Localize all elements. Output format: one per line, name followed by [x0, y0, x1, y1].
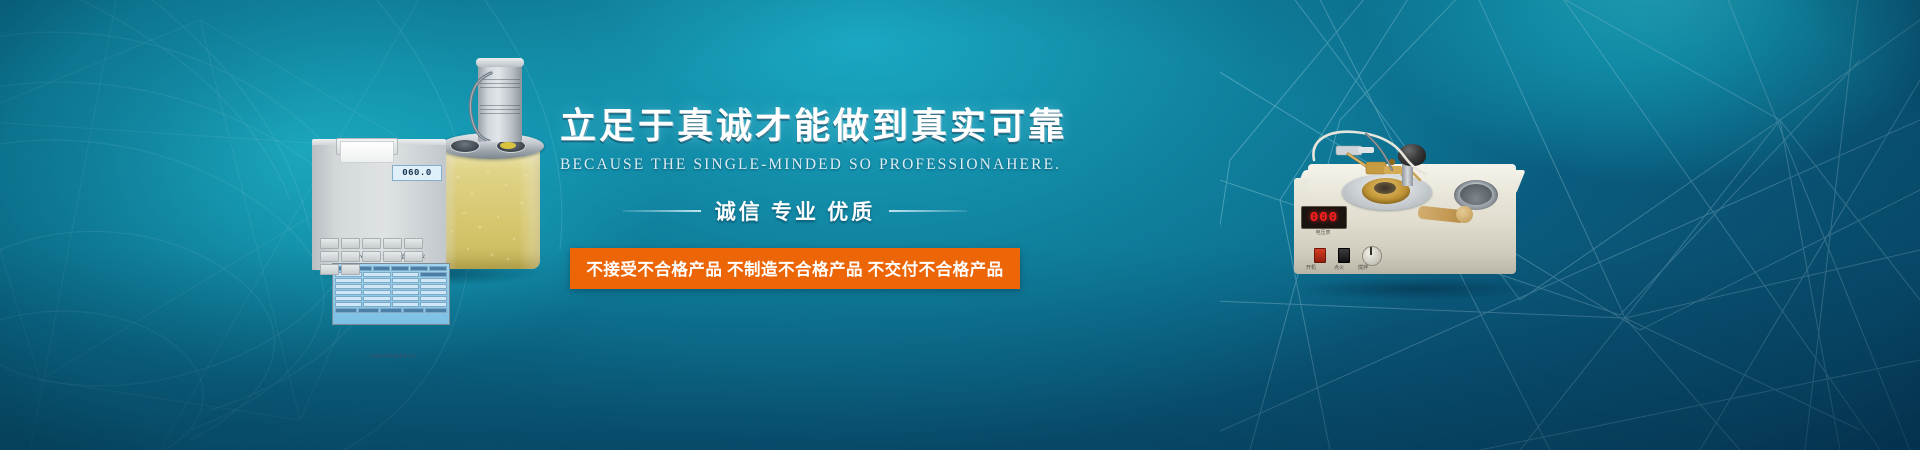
keypad-key[interactable] — [341, 238, 360, 249]
quality-slogan-banner: 不接受不合格产品 不制造不合格产品 不交付不合格产品 — [570, 248, 1019, 289]
lcd-cell — [392, 284, 419, 289]
lcd-row — [335, 290, 447, 295]
cup-handle-knob — [1456, 206, 1473, 223]
lcd-cell — [429, 266, 447, 271]
lcd-cell — [363, 302, 390, 307]
console-footer-label: 上海昌吉地质仪器有限公司 — [328, 352, 454, 359]
lcd-cell — [392, 296, 419, 301]
lcd-cell — [392, 278, 419, 283]
lcd-cell — [335, 290, 362, 295]
lcd-cell — [335, 308, 357, 313]
keypad-key[interactable] — [362, 251, 381, 262]
keypad-key[interactable] — [341, 264, 360, 275]
console-keypad — [320, 238, 438, 260]
lcd-row — [335, 302, 447, 307]
lcd-cell — [392, 272, 419, 277]
keypad-key[interactable] — [320, 251, 339, 262]
keyword-text: 诚信 专业 优质 — [715, 196, 876, 226]
lcd-cell — [420, 302, 447, 307]
bath-port-oil-surface — [500, 142, 516, 149]
led-voltage-display: 000 — [1301, 206, 1347, 229]
lcd-cell — [420, 272, 447, 277]
bath-port-left — [450, 139, 480, 153]
condenser-hose — [465, 69, 495, 141]
lcd-cell — [420, 278, 447, 283]
lcd-cell — [335, 284, 362, 289]
keypad-key[interactable] — [383, 238, 402, 249]
keypad-key[interactable] — [320, 238, 339, 249]
divider-rule-left — [623, 210, 701, 212]
tester-shadow — [1296, 278, 1536, 300]
control-label-ignition: 点火 — [1334, 264, 1344, 271]
lcd-cell — [363, 290, 390, 295]
lcd-cell — [410, 266, 428, 271]
control-label-stir: 搅拌 — [1358, 264, 1368, 271]
keypad-key[interactable] — [362, 238, 381, 249]
led-display-label: 电压表 — [1301, 229, 1345, 238]
lcd-cell — [335, 296, 362, 301]
lcd-cell — [403, 308, 425, 313]
lcd-cell — [391, 266, 409, 271]
control-label-power: 开机 — [1306, 264, 1316, 271]
lcd-row — [335, 278, 447, 283]
banner-text-block: 立足于真诚才能做到真实可靠 BECAUSE THE SINGLE-MINDED … — [560, 108, 1030, 289]
lcd-row — [335, 284, 447, 289]
lcd-cell — [392, 290, 419, 295]
led-digits: 000 — [1310, 211, 1338, 225]
lcd-cell — [363, 296, 390, 301]
ignition-switch[interactable] — [1338, 248, 1350, 263]
stir-speed-dial-needle — [1370, 247, 1372, 255]
lcd-cell — [420, 296, 447, 301]
gas-line-loop — [1308, 130, 1448, 176]
lcd-cell — [420, 284, 447, 289]
lcd-cell — [373, 266, 391, 271]
heater-well-inner — [1460, 184, 1492, 205]
printer-paper — [340, 141, 394, 163]
lcd-row — [335, 296, 447, 301]
lcd-cell — [425, 308, 447, 313]
lcd-cell — [363, 272, 390, 277]
flash-point-tester-image: 000 电压表 开机 点火 搅拌 — [1290, 128, 1540, 303]
lcd-cell — [392, 302, 419, 307]
viscometer-instrument-image: SYD-265H 运动粘度自动测定仪 — [300, 55, 550, 315]
keypad-key[interactable] — [383, 251, 402, 262]
keyword-row: 诚信 专业 优质 — [560, 196, 1030, 226]
keypad-key[interactable] — [404, 251, 423, 262]
lcd-cell — [363, 278, 390, 283]
page-title: 立足于真诚才能做到真实可靠 — [560, 108, 1030, 144]
lcd-cell — [363, 284, 390, 289]
keypad-key[interactable] — [320, 264, 339, 275]
lcd-cell — [380, 308, 402, 313]
keypad-key[interactable] — [404, 238, 423, 249]
lcd-cell — [335, 278, 362, 283]
divider-rule-right — [889, 210, 967, 212]
keypad-key[interactable] — [341, 251, 360, 262]
lcd-primary-readout: 060.0 — [392, 165, 442, 181]
lcd-row — [335, 308, 447, 313]
lcd-cell — [358, 308, 380, 313]
english-subtitle: BECAUSE THE SINGLE-MINDED SO PROFESSIONA… — [560, 156, 1030, 174]
lcd-cell — [335, 302, 362, 307]
power-switch[interactable] — [1314, 248, 1326, 263]
stir-speed-dial[interactable] — [1362, 246, 1382, 266]
oil-bath-bubbles — [444, 155, 540, 269]
lcd-cell — [420, 290, 447, 295]
promotional-banner: SYD-265H 运动粘度自动测定仪 — [0, 0, 1920, 450]
condenser-tower-cap — [476, 58, 524, 67]
